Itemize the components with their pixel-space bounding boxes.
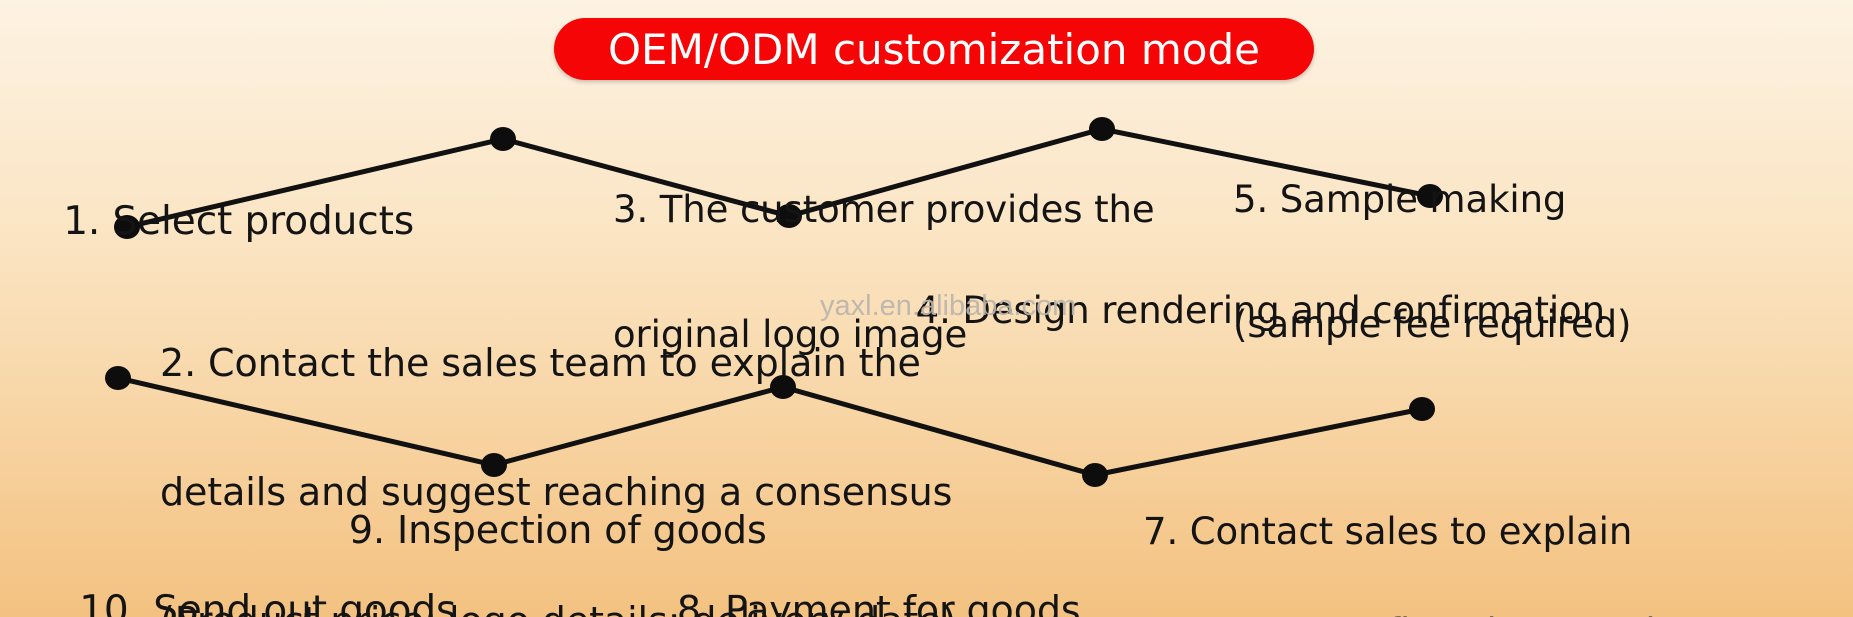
site-watermark-text: yaxl.en.alibaba.com	[820, 290, 1076, 322]
site-watermark: yaxl.en.alibaba.com	[820, 290, 1076, 323]
node-step-3	[490, 127, 516, 151]
step-7-text-line1: 7. Contact sales to explain	[1143, 511, 1632, 553]
node-step-10	[105, 366, 131, 390]
step-1-text: 1. Select products	[63, 199, 414, 244]
flow-diagram-canvas: OEM/ODM customization mode 1. Select pro…	[0, 0, 1853, 617]
step-10-label: 10. Send out goods	[30, 545, 456, 617]
step-5-text-line1: 5. Sample making	[1233, 179, 1631, 221]
banner-title: OEM/ODM customization mode	[554, 18, 1314, 80]
step-5-label: 5. Sample making (sample fee required)	[1233, 95, 1631, 429]
node-step-7	[1082, 463, 1108, 487]
step-7-label: 7. Contact sales to explain the requirem…	[1143, 427, 1632, 617]
step-5-text-line2: (sample fee required)	[1233, 304, 1631, 346]
step-3-text-line1: 3. The customer provides the	[613, 189, 1155, 231]
step-10-text: 10. Send out goods	[79, 588, 456, 617]
banner-title-text: OEM/ODM customization mode	[608, 25, 1260, 74]
